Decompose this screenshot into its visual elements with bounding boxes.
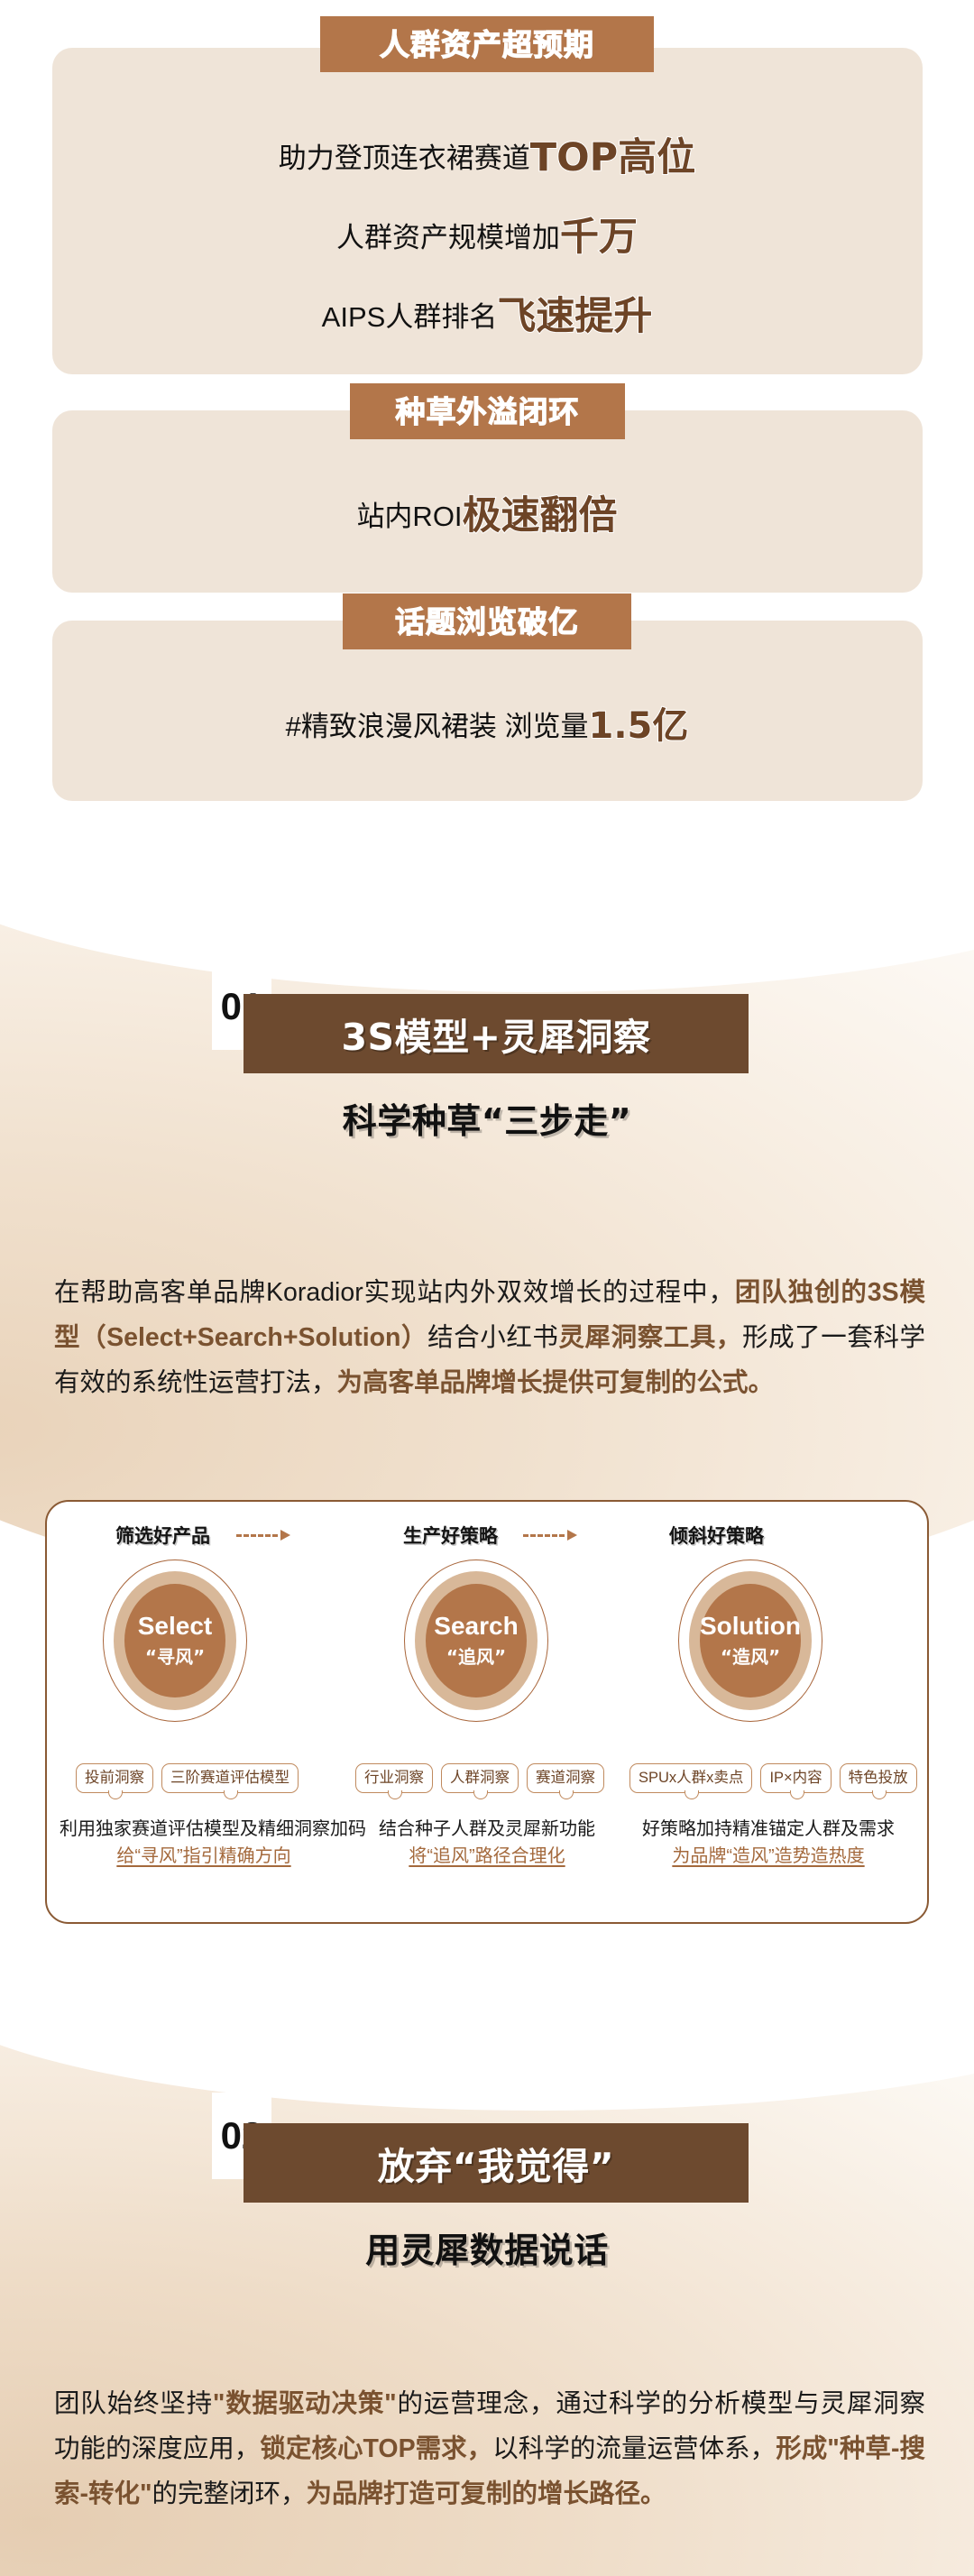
stat-card-3-badge-label: 话题浏览破亿: [395, 607, 579, 637]
circle-inner-disc: Select “寻风”: [124, 1584, 225, 1697]
paragraph-text: 团队始终坚持: [54, 2389, 213, 2418]
circle-inner-disc: Search “追风”: [426, 1584, 527, 1697]
stat-card-1-line-1: 助力登顶连衣裙赛道TOP高位: [0, 126, 974, 182]
circle-select-en-label: Select: [138, 1613, 213, 1639]
paragraph-text: 的完整闭环，: [152, 2479, 307, 2508]
paragraph-emphasis: 锁定核心TOP需求，: [260, 2434, 492, 2463]
infographic-page: 人群资产超预期 助力登顶连衣裙赛道TOP高位 人群资产规模增加千万 AIPS人群…: [0, 0, 974, 2576]
circle-inner-disc: Solution “造风”: [700, 1584, 801, 1697]
circle-select-cn-label: “寻风”: [145, 1642, 205, 1669]
diagram-circle-search: Search “追风”: [404, 1559, 548, 1722]
stat-card-1-line-2: 人群资产规模增加千万: [0, 206, 974, 262]
circle-solution-cn-label: “造风”: [721, 1642, 780, 1669]
stat-card-2-line-1-highlight: 极速翻倍: [463, 493, 618, 538]
section-02-title-bar: 放弃“我觉得”: [243, 2123, 749, 2203]
section-02-subtitle: 用灵犀数据说话: [0, 2222, 974, 2272]
paragraph-text: 以科学的流量运营体系，: [492, 2434, 776, 2463]
section-01-title: 3S模型+灵犀洞察: [342, 1007, 651, 1061]
diagram-caption-search: 结合种子人群及灵犀新功能 将“追风”路径合理化: [361, 1816, 613, 1870]
paragraph-emphasis: 为品牌打造可复制的增长路径。: [307, 2479, 666, 2508]
stat-card-1-line-2-plain: 人群资产规模增加: [336, 222, 560, 253]
stat-card-1-line-1-highlight: TOP高位: [530, 135, 695, 180]
stat-card-1-line-3-highlight: 飞速提升: [497, 294, 652, 339]
tag-item[interactable]: 特色投放: [840, 1763, 917, 1793]
stat-card-2-badge-label: 种草外溢闭环: [396, 397, 580, 427]
tag-item[interactable]: IP×内容: [760, 1763, 831, 1793]
section-02-paragraph: 团队始终坚持"数据驱动决策"的运营理念，通过科学的分析模型与灵犀洞察功能的深度应…: [54, 2381, 925, 2516]
stat-card-3-line-1-highlight: 1.5亿: [589, 705, 689, 747]
stat-card-1-badge-label: 人群资产超预期: [380, 30, 594, 60]
tag-item[interactable]: 行业洞察: [355, 1763, 433, 1793]
section-02-title: 放弃“我觉得”: [378, 2136, 614, 2190]
section-01-title-bar: 3S模型+灵犀洞察: [243, 994, 749, 1073]
paragraph-emphasis: "数据驱动决策": [213, 2389, 397, 2418]
stat-card-3-line-1: #精致浪漫风裙装 浏览量1.5亿: [0, 696, 974, 749]
caption-line-2: 将“追风”路径合理化: [361, 1843, 613, 1870]
diagram-step-label-2: 生产好策略: [403, 1522, 498, 1549]
circle-solution-en-label: Solution: [700, 1613, 801, 1639]
section-01-subtitle: 科学种草“三步走”: [0, 1093, 974, 1143]
paragraph-emphasis: 灵犀洞察工具，: [558, 1323, 742, 1352]
diagram-step-label-1: 筛选好产品: [115, 1522, 210, 1549]
caption-line-1: 好策略加持精准锚定人群及需求: [624, 1816, 913, 1843]
stat-card-1-line-3-plain: AIPS人群排名: [322, 301, 498, 333]
stat-card-3-badge: 话题浏览破亿: [343, 593, 631, 649]
diagram-arrow-2-icon: [523, 1529, 577, 1541]
tag-item[interactable]: 赛道洞察: [527, 1763, 604, 1793]
stat-card-2-badge: 种草外溢闭环: [350, 383, 625, 439]
tag-item[interactable]: 投前洞察: [76, 1763, 153, 1793]
tag-item[interactable]: 人群洞察: [441, 1763, 519, 1793]
section-01-paragraph: 在帮助高客单品牌Koradior实现站内外双效增长的过程中，团队独创的3S模型（…: [54, 1270, 925, 1405]
diagram-circle-select: Select “寻风”: [103, 1559, 247, 1722]
diagram-tags-solution: SPUx人群x卖点 IP×内容 特色投放: [629, 1763, 917, 1793]
decorative-gradient-blob-top: [0, 794, 974, 1605]
caption-line-2: 为品牌“造风”造势造热度: [624, 1843, 913, 1870]
stat-card-3-line-1-plain: #精致浪漫风裙装 浏览量: [286, 711, 589, 742]
diagram-arrow-1-icon: [236, 1529, 290, 1541]
stat-card-1-line-1-plain: 助力登顶连衣裙赛道: [279, 143, 530, 174]
caption-line-1: 结合种子人群及灵犀新功能: [361, 1816, 613, 1843]
stat-card-2-line-1: 站内ROI极速翻倍: [0, 484, 974, 540]
paragraph-emphasis: 为高客单品牌增长提供可复制的公式。: [337, 1368, 775, 1397]
stat-card-2-line-1-plain: 站内ROI: [356, 501, 462, 532]
circle-search-en-label: Search: [434, 1613, 518, 1639]
tag-item[interactable]: 三阶赛道评估模型: [161, 1763, 299, 1793]
diagram-caption-select: 利用独家赛道评估模型及精细洞察加码 给“寻风”指引精确方向: [60, 1816, 348, 1870]
3s-model-diagram: 筛选好产品 生产好策略 倾斜好策略 Select “寻风” Search “追风…: [45, 1500, 929, 1924]
tag-item[interactable]: SPUx人群x卖点: [629, 1763, 752, 1793]
paragraph-text: 结合小红书: [427, 1323, 558, 1352]
paragraph-text: 在帮助高客单品牌Koradior实现站内外双效增长的过程中，: [54, 1278, 735, 1307]
diagram-step-label-3: 倾斜好策略: [669, 1522, 764, 1549]
stat-card-1-line-2-highlight: 千万: [560, 215, 638, 260]
stat-card-1-line-3: AIPS人群排名飞速提升: [0, 285, 974, 341]
caption-line-2: 给“寻风”指引精确方向: [60, 1843, 348, 1870]
stat-card-1-badge: 人群资产超预期: [320, 16, 654, 72]
diagram-tags-select: 投前洞察 三阶赛道评估模型: [76, 1763, 299, 1793]
circle-search-cn-label: “追风”: [446, 1642, 506, 1669]
diagram-tags-search: 行业洞察 人群洞察 赛道洞察: [355, 1763, 604, 1793]
diagram-circle-solution: Solution “造风”: [678, 1559, 822, 1722]
diagram-caption-solution: 好策略加持精准锚定人群及需求 为品牌“造风”造势造热度: [624, 1816, 913, 1870]
caption-line-1: 利用独家赛道评估模型及精细洞察加码: [60, 1816, 348, 1843]
